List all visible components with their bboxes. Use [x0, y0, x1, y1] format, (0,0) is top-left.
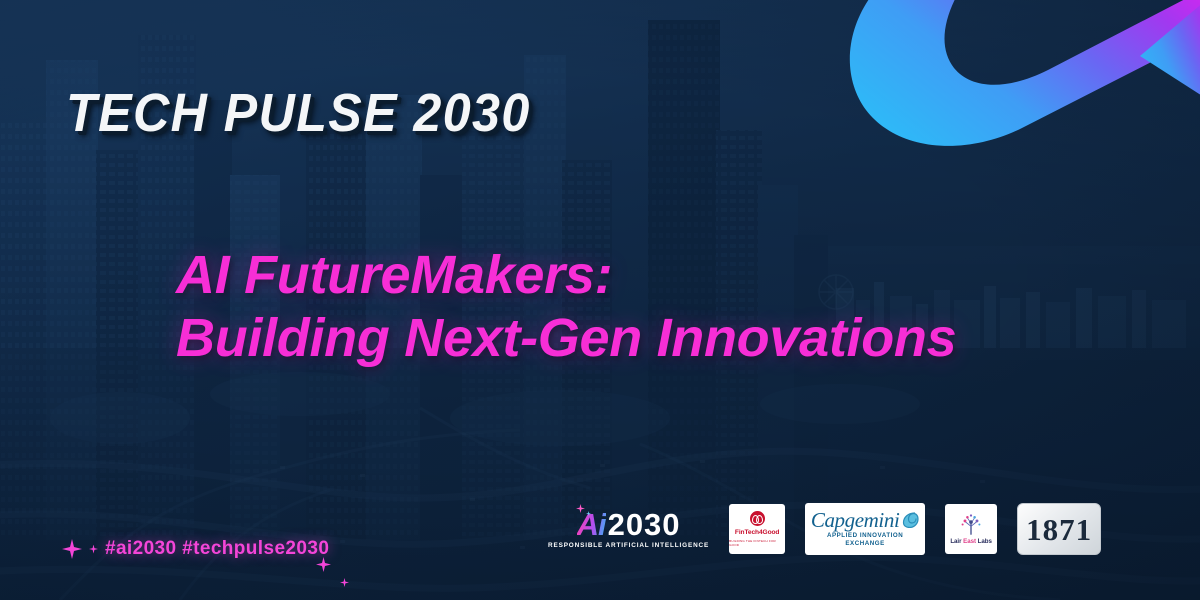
event-banner: TECH PULSE 2030 AI FutureMakers: Buildin…: [0, 0, 1200, 600]
lel-part2: East: [963, 538, 976, 545]
gradient-swoosh-graphic: [800, 0, 1200, 209]
sponsor-logo-ai2030: Ai 2030 RESPONSIBLE ARTIFICIAL INTELLIGE…: [548, 509, 709, 549]
headline-line-1: AI FutureMakers:: [176, 245, 612, 305]
sponsor-logo-1871: 1871: [1017, 503, 1101, 555]
event-headline: AI FutureMakers: Building Next-Gen Innov…: [176, 244, 1076, 370]
sparkle-icon: [62, 539, 82, 559]
lel-part1: Lair: [950, 538, 963, 545]
ai2030-number: 2030: [608, 509, 681, 540]
capgemini-tagline: APPLIED INNOVATION EXCHANGE: [827, 532, 903, 549]
lel-part3: Labs: [976, 538, 992, 545]
sponsor-logo-row: Ai 2030 RESPONSIBLE ARTIFICIAL INTELLIGE…: [548, 503, 1101, 555]
lair-east-labs-name: Lair East Labs: [950, 538, 992, 545]
capgemini-tagline-line-2: EXCHANGE: [827, 540, 903, 548]
capgemini-wordmark: Capgemini: [811, 510, 920, 531]
ai2030-ai-mark: Ai: [577, 509, 606, 540]
capgemini-tagline-line-1: APPLIED INNOVATION: [827, 532, 903, 540]
sponsor-logo-lair-east-labs: Lair East Labs: [945, 504, 997, 554]
ai2030-tagline: RESPONSIBLE ARTIFICIAL INTELLIGENCE: [548, 542, 709, 549]
fintech4good-name: FinTech4Good: [735, 529, 779, 536]
hashtag-row: #ai2030 #techpulse2030: [62, 538, 329, 560]
capgemini-name: Capgemini: [811, 510, 900, 531]
sponsor-logo-capgemini: Capgemini APPLIED INNOVATION EXCHANGE: [805, 503, 925, 555]
fintech4good-tagline: BUILDING THE FINTECH FOR GOOD: [729, 539, 785, 547]
sponsor-logo-fintech4good: FinTech4Good BUILDING THE FINTECH FOR GO…: [729, 504, 785, 554]
ai2030-wordmark: Ai 2030: [577, 509, 681, 540]
headline-line-2: Building Next-Gen Innovations: [176, 307, 1076, 370]
lair-east-labs-tree-icon: [959, 513, 983, 536]
sparkle-small-icon: [89, 545, 98, 554]
e1871-name: 1871: [1026, 514, 1092, 545]
event-kicker-title: TECH PULSE 2030: [66, 82, 531, 144]
fintech4good-mark-icon: [750, 511, 765, 526]
hashtags-label: #ai2030 #techpulse2030: [105, 538, 329, 560]
capgemini-swirl-icon: [902, 512, 919, 528]
